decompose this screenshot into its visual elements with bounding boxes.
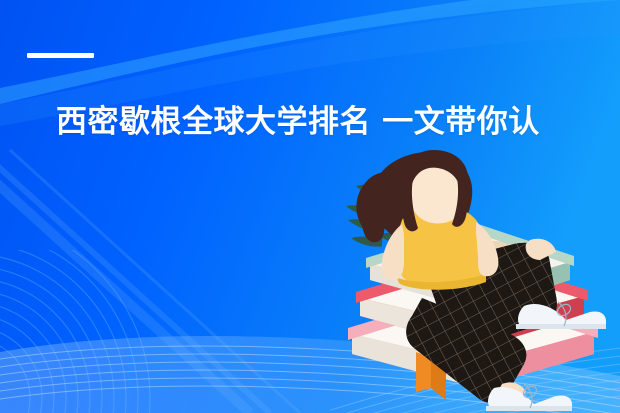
article-banner: 西密歇根全球大学排名 一文带你认 bbox=[0, 0, 620, 413]
shoe-front bbox=[516, 302, 606, 329]
page-title: 西密歇根全球大学排名 一文带你认 bbox=[56, 100, 556, 146]
hero-illustration bbox=[318, 148, 620, 413]
title-accent-bar bbox=[27, 53, 94, 58]
shoe-back bbox=[486, 384, 572, 411]
